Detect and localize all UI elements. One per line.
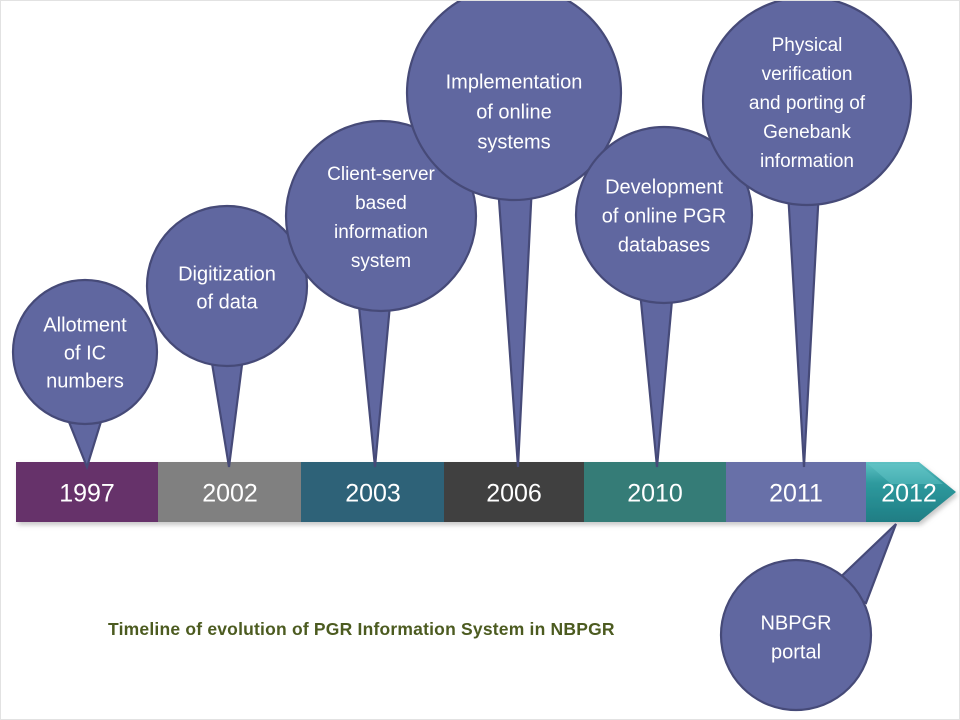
segment-year-2011: 2011 <box>769 480 823 508</box>
timeline-segment-2010[interactable]: 2010 <box>584 462 726 522</box>
callout-label-2002-line-2: of data <box>196 291 258 313</box>
callout-tail-2003 <box>358 294 391 467</box>
callout-label-2003-line-1: Client-server <box>327 164 435 185</box>
callout-allotment-of-ic-numbers[interactable]: Allotment of IC numbers <box>13 280 157 467</box>
segment-year-2002: 2002 <box>202 480 258 508</box>
callout-label-2006-line-1: Implementation <box>446 71 583 93</box>
callout-bubble-2002 <box>147 206 307 366</box>
timeline-segment-1997[interactable]: 1997 <box>16 462 158 522</box>
segment-year-2003: 2003 <box>345 480 401 508</box>
callout-tail-2010 <box>640 289 673 467</box>
segment-year-1997: 1997 <box>59 480 115 508</box>
callout-tail-2006 <box>498 184 532 467</box>
segment-year-2006: 2006 <box>486 480 542 508</box>
segment-year-2012: 2012 <box>881 480 937 508</box>
timeline-bar: 1997 2002 2003 2006 2010 2011 <box>16 462 956 522</box>
timeline-segment-2003[interactable]: 2003 <box>301 462 444 522</box>
callout-bubble-2012 <box>721 560 871 710</box>
callout-label-1997-line-1: Allotment <box>43 314 127 336</box>
timeline-segment-2006[interactable]: 2006 <box>444 462 584 522</box>
callout-development-of-online-pgr-databases[interactable]: Development of online PGR databases <box>576 127 752 467</box>
callout-label-2003-line-4: system <box>351 251 411 272</box>
callout-label-1997-line-3: numbers <box>46 370 124 392</box>
callout-label-2006-line-2: of online <box>476 101 552 123</box>
timeline-diagram-svg: 1997 2002 2003 2006 2010 2011 <box>1 1 960 720</box>
callout-label-2012-line-2: portal <box>771 641 821 663</box>
timeline-segment-2011[interactable]: 2011 <box>726 462 866 522</box>
callout-label-1997-line-2: of IC <box>64 342 106 364</box>
callout-label-2012-line-1: NBPGR <box>760 612 831 634</box>
timeline-segment-2012-arrow[interactable]: 2012 <box>866 462 956 522</box>
callout-label-2011-line-4: Genebank <box>763 122 851 143</box>
diagram-caption: Timeline of evolution of PGR Information… <box>108 619 615 639</box>
callout-label-2011-line-3: and porting of <box>749 93 866 114</box>
callout-label-2011-line-2: verification <box>762 64 853 85</box>
timeline-segment-2002[interactable]: 2002 <box>158 462 301 522</box>
callout-tail-2011 <box>788 189 819 467</box>
callout-label-2010-line-2: of online PGR <box>602 205 727 227</box>
callout-label-2002-line-1: Digitization <box>178 263 276 285</box>
callout-label-2010-line-3: databases <box>618 234 710 256</box>
segment-year-2010: 2010 <box>627 480 683 508</box>
callout-label-2006-line-3: systems <box>477 131 550 153</box>
callout-label-2010-line-1: Development <box>605 176 723 198</box>
callout-label-2003-line-2: based <box>355 193 407 214</box>
callout-label-2011-line-1: Physical <box>772 35 843 56</box>
callout-label-2011-line-5: information <box>760 151 854 172</box>
callout-nbpgr-portal[interactable]: NBPGR portal <box>721 524 896 710</box>
callout-digitization-of-data[interactable]: Digitization of data <box>147 206 307 467</box>
timeline-diagram-canvas: 1997 2002 2003 2006 2010 2011 <box>0 0 960 720</box>
callout-label-2003-line-3: information <box>334 222 428 243</box>
